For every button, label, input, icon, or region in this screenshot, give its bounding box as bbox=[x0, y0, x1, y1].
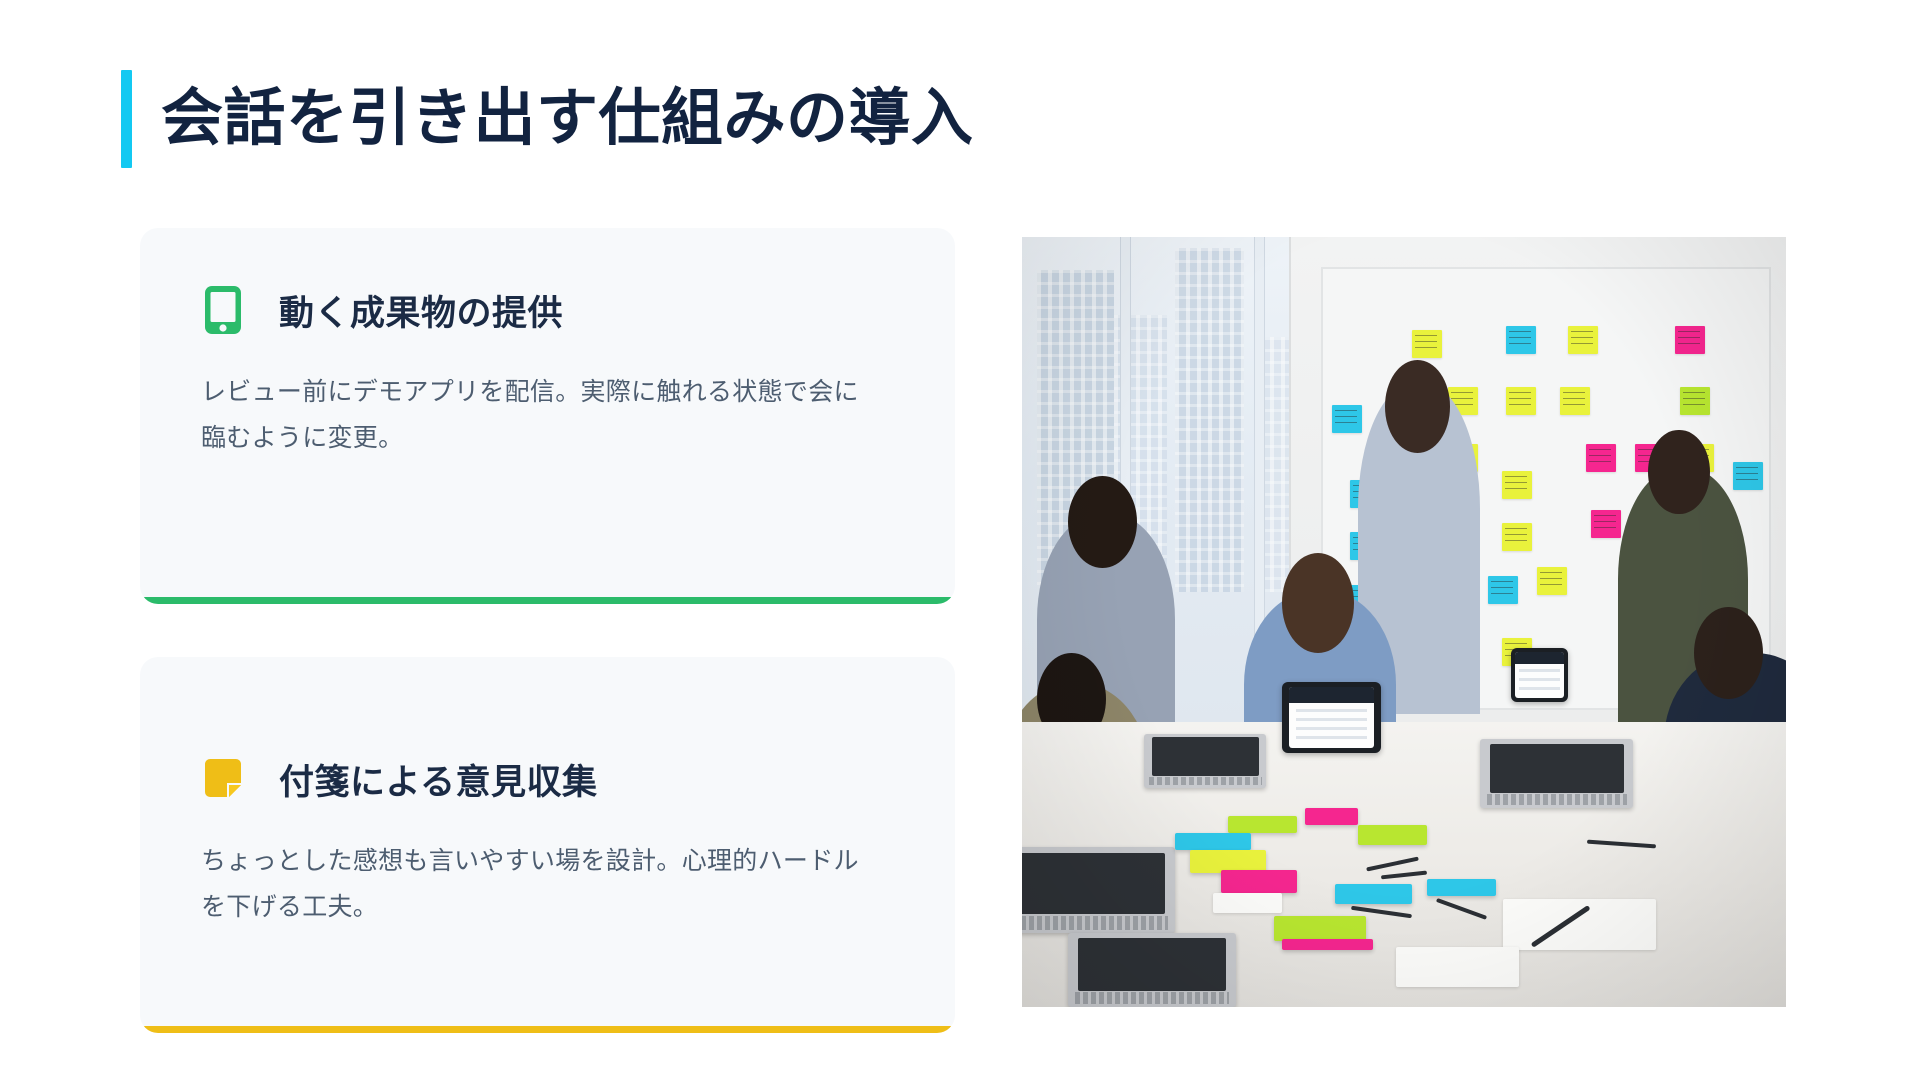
sticky-note bbox=[1568, 326, 1598, 354]
slide-title-text: 会話を引き出す仕組みの導入 bbox=[161, 70, 974, 168]
sticky-note bbox=[1506, 326, 1536, 354]
smartphone-device bbox=[1511, 648, 1568, 702]
sticky-note-icon bbox=[200, 753, 246, 805]
sticky-note-stack bbox=[1282, 939, 1374, 950]
sticky-note-stack bbox=[1427, 879, 1496, 896]
paper-card bbox=[1213, 893, 1282, 913]
card-1-accent-bar bbox=[140, 597, 955, 604]
sticky-note bbox=[1506, 387, 1536, 415]
laptop bbox=[1022, 847, 1175, 932]
sticky-note-stack bbox=[1358, 825, 1427, 845]
person-head bbox=[1385, 360, 1450, 452]
sticky-note-stack bbox=[1228, 816, 1297, 833]
sticky-note bbox=[1560, 387, 1590, 415]
tablet-device bbox=[1282, 682, 1381, 753]
workshop-photo-scene bbox=[1022, 237, 1786, 1007]
card-2-header: 付箋による意見収集 bbox=[140, 657, 955, 805]
feature-card-list: 動く成果物の提供 レビュー前にデモアプリを配信。実際に触れる状態で会に臨むように… bbox=[140, 228, 955, 1033]
page-title: 会話を引き出す仕組みの導入 bbox=[121, 70, 974, 168]
paper-sketch bbox=[1503, 899, 1656, 950]
smartphone-icon bbox=[200, 284, 246, 336]
laptop bbox=[1480, 739, 1633, 807]
card-2-body: ちょっとした感想も言いやすい場を設計。心理的ハードルを下げる工夫。 bbox=[140, 805, 955, 931]
pen bbox=[1587, 839, 1656, 848]
sticky-note bbox=[1733, 462, 1763, 490]
card-1-title: 動く成果物の提供 bbox=[279, 285, 563, 336]
card-2-title: 付箋による意見収集 bbox=[279, 754, 597, 805]
sticky-note bbox=[1675, 326, 1705, 354]
laptop bbox=[1144, 734, 1266, 788]
person-head bbox=[1282, 553, 1355, 653]
sticky-note bbox=[1412, 330, 1442, 358]
pen bbox=[1366, 856, 1419, 871]
sticky-note bbox=[1591, 510, 1621, 538]
sticky-note-stack bbox=[1221, 870, 1297, 893]
meeting-table bbox=[1022, 722, 1786, 1007]
sticky-note bbox=[1332, 405, 1362, 433]
laptop bbox=[1068, 933, 1236, 1007]
sticky-note bbox=[1502, 471, 1532, 499]
sticky-note-stack bbox=[1175, 833, 1251, 850]
feature-card-2[interactable]: 付箋による意見収集 ちょっとした感想も言いやすい場を設計。心理的ハードルを下げる… bbox=[140, 657, 955, 1033]
paper-sheet bbox=[1396, 947, 1518, 987]
building bbox=[1175, 248, 1244, 592]
sticky-note-stack bbox=[1335, 884, 1411, 904]
card-1-header: 動く成果物の提供 bbox=[140, 228, 955, 336]
sticky-note-stack bbox=[1274, 916, 1366, 942]
sticky-note bbox=[1586, 444, 1616, 472]
person-head bbox=[1648, 430, 1709, 515]
sticky-note bbox=[1680, 387, 1710, 415]
sticky-note bbox=[1537, 567, 1567, 595]
feature-card-1[interactable]: 動く成果物の提供 レビュー前にデモアプリを配信。実際に触れる状態で会に臨むように… bbox=[140, 228, 955, 604]
workshop-photo bbox=[1022, 237, 1786, 1007]
card-2-accent-bar bbox=[140, 1026, 955, 1033]
pen bbox=[1435, 898, 1487, 920]
sticky-note-stack bbox=[1305, 808, 1358, 825]
window-mullion bbox=[1255, 237, 1264, 636]
title-accent-bar bbox=[121, 70, 132, 168]
sticky-note bbox=[1488, 576, 1518, 604]
pen bbox=[1381, 871, 1427, 880]
card-1-body: レビュー前にデモアプリを配信。実際に触れる状態で会に臨むように変更。 bbox=[140, 336, 955, 462]
person-head bbox=[1694, 607, 1763, 699]
person-head bbox=[1068, 476, 1137, 568]
sticky-note bbox=[1502, 523, 1532, 551]
